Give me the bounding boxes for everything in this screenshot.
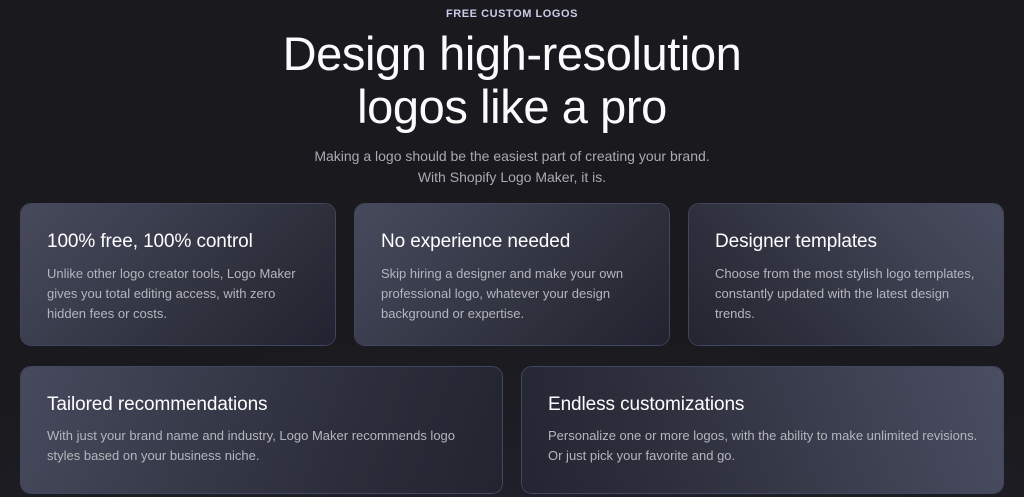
- feature-card-designer-templates[interactable]: Designer templates Choose from the most …: [688, 203, 1004, 346]
- hero-eyebrow: FREE CUSTOM LOGOS: [0, 7, 1024, 21]
- feature-card-body: Choose from the most stylish logo templa…: [715, 264, 981, 324]
- hero-section: FREE CUSTOM LOGOS Design high-resolution…: [0, 0, 1024, 188]
- feature-card-free-control[interactable]: 100% free, 100% control Unlike other log…: [20, 203, 336, 346]
- subhead-line-2: With Shopify Logo Maker, it is.: [0, 167, 1024, 188]
- page-title: Design high-resolution logos like a pro: [0, 27, 1024, 133]
- feature-card-title: Endless customizations: [548, 393, 981, 417]
- headline-line-1: Design high-resolution: [283, 27, 742, 80]
- feature-row-top: 100% free, 100% control Unlike other log…: [20, 203, 1004, 346]
- feature-card-body: Skip hiring a designer and make your own…: [381, 264, 647, 324]
- hero-subhead: Making a logo should be the easiest part…: [0, 146, 1024, 188]
- feature-card-title: No experience needed: [381, 230, 647, 254]
- feature-card-endless-customizations[interactable]: Endless customizations Personalize one o…: [521, 366, 1004, 494]
- subhead-line-1: Making a logo should be the easiest part…: [314, 148, 709, 164]
- feature-card-title: Tailored recommendations: [47, 393, 480, 417]
- feature-card-body: Personalize one or more logos, with the …: [548, 426, 981, 466]
- feature-card-grid: 100% free, 100% control Unlike other log…: [20, 203, 1004, 494]
- feature-card-body: With just your brand name and industry, …: [47, 426, 480, 466]
- headline-line-2: logos like a pro: [0, 80, 1024, 133]
- feature-card-title: 100% free, 100% control: [47, 230, 313, 254]
- feature-row-bottom: Tailored recommendations With just your …: [20, 366, 1004, 494]
- feature-card-no-experience[interactable]: No experience needed Skip hiring a desig…: [354, 203, 670, 346]
- feature-card-title: Designer templates: [715, 230, 981, 254]
- page-root: FREE CUSTOM LOGOS Design high-resolution…: [0, 0, 1024, 497]
- feature-card-body: Unlike other logo creator tools, Logo Ma…: [47, 264, 313, 324]
- feature-card-tailored-recommendations[interactable]: Tailored recommendations With just your …: [20, 366, 503, 494]
